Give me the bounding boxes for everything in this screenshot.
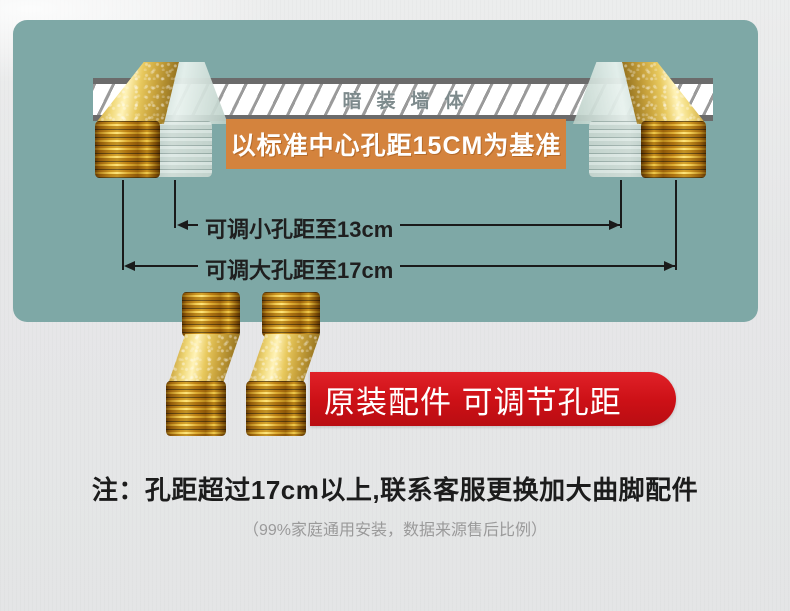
dimension-label-outer: 可调大孔距至17cm [198,253,400,285]
note-sub: （99%家庭通用安装，数据来源售后比例） [0,516,790,540]
leader-line-outer-left [122,180,124,270]
promo-banner: 原装配件 可调节孔距 [310,372,676,426]
dimension-label-inner: 可调小孔距至13cm [198,212,400,244]
diagram-panel: 暗装墙体 以标准中心孔距15CM为基准 [13,20,758,322]
standard-spacing-banner: 以标准中心孔距15CM为基准 [226,119,566,169]
loose-part-1-bottom-thread-icon [166,381,226,436]
dimension-arrow-outer-right [664,261,675,271]
brass-thread-right-icon [641,121,706,178]
loose-part-1-top-thread-icon [182,292,240,337]
dimension-arrow-inner-right [609,220,620,230]
dimension-arrow-outer-left [124,261,135,271]
loose-part-1 [166,292,246,437]
brass-thread-left-icon [95,121,160,178]
leader-line-inner-right [620,180,622,228]
loose-part-2-bottom-thread-icon [246,381,306,436]
promo-banner-text: 原装配件 可调节孔距 [324,377,622,422]
loose-part-2-top-thread-icon [262,292,320,337]
leader-line-outer-right [675,180,677,270]
note-main: 注：孔距超过17cm以上,联系客服更换加大曲脚配件 [0,470,790,507]
fitting-right-group [543,62,733,202]
dimension-arrow-inner-left [177,220,188,230]
leader-line-inner-left [174,180,176,228]
standard-spacing-banner-text: 以标准中心孔距15CM为基准 [231,126,562,162]
poster-root: 暗装墙体 以标准中心孔距15CM为基准 [0,0,790,611]
loose-part-1-elbow-icon [168,334,240,384]
